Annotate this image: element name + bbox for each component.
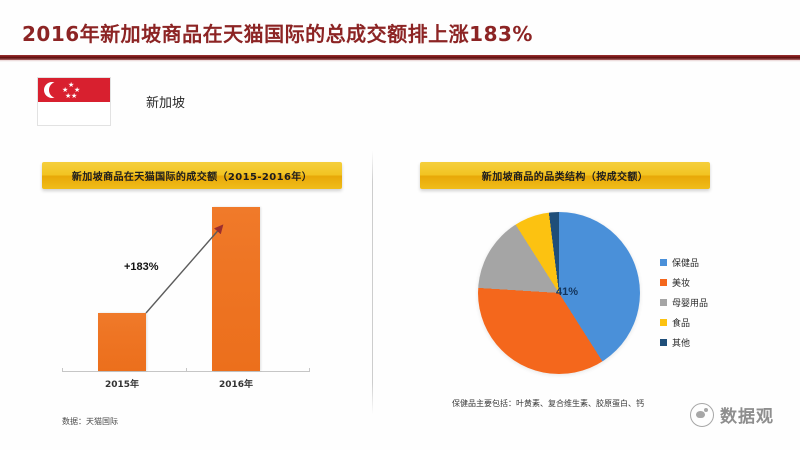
legend-swatch-icon bbox=[660, 299, 667, 306]
legend-label: 美妆 bbox=[672, 276, 690, 289]
crescent-icon bbox=[44, 82, 60, 98]
legend-item-baojianpin: 保健品 bbox=[660, 256, 740, 269]
cloud-logo-icon bbox=[690, 403, 714, 427]
left-chart-banner: 新加坡商品在天猫国际的成交额（2015-2016年） bbox=[42, 162, 342, 189]
panel-divider bbox=[372, 150, 373, 415]
bar-2015 bbox=[98, 313, 146, 371]
stars-icon: ★ ★ ★ ★ ★ bbox=[60, 82, 84, 99]
legend-swatch-icon bbox=[660, 339, 667, 346]
bar-label-2016: 2016年 bbox=[206, 377, 266, 390]
page-title: 2016年新加坡商品在天猫国际的总成交额排上涨183% bbox=[22, 18, 533, 47]
bar-2016 bbox=[212, 207, 260, 371]
bar-chart-axis bbox=[62, 371, 310, 372]
legend-swatch-icon bbox=[660, 259, 667, 266]
slide-canvas: 2016年新加坡商品在天猫国际的总成交额排上涨183% ★ ★ ★ ★ ★ 新加… bbox=[0, 0, 800, 450]
axis-tick-start bbox=[62, 368, 63, 372]
pie-chart: 41% bbox=[478, 212, 648, 382]
flag-white-band bbox=[38, 102, 110, 126]
legend-item-meizhuang: 美妆 bbox=[660, 276, 740, 289]
pie-footnote: 保健品主要包括：叶黄素、复合维生素、胶原蛋白、钙 bbox=[452, 398, 644, 409]
title-divider-shadow bbox=[0, 60, 800, 62]
legend-label: 其他 bbox=[672, 336, 690, 349]
bar-chart: 2015年 2016年 +183% bbox=[62, 205, 312, 390]
pie-data-label: 41% bbox=[556, 286, 578, 298]
country-block: ★ ★ ★ ★ ★ 新加坡 bbox=[38, 78, 185, 125]
legend-item-qita: 其他 bbox=[660, 336, 740, 349]
growth-annotation: +183% bbox=[124, 261, 159, 273]
axis-tick-mid bbox=[186, 368, 187, 372]
legend-swatch-icon bbox=[660, 279, 667, 286]
legend-item-shipin: 食品 bbox=[660, 316, 740, 329]
legend-label: 食品 bbox=[672, 316, 690, 329]
singapore-flag-icon: ★ ★ ★ ★ ★ bbox=[38, 78, 110, 125]
legend-label: 母婴用品 bbox=[672, 296, 708, 309]
source-note: 数据：天猫国际 bbox=[62, 416, 118, 427]
legend-swatch-icon bbox=[660, 319, 667, 326]
legend-label: 保健品 bbox=[672, 256, 699, 269]
axis-tick-end bbox=[309, 368, 310, 372]
bar-label-2015: 2015年 bbox=[92, 377, 152, 390]
watermark-text: 数据观 bbox=[720, 402, 774, 427]
right-chart-banner: 新加坡商品的品类结构（按成交额） bbox=[420, 162, 710, 189]
country-label: 新加坡 bbox=[146, 92, 185, 111]
pie-legend: 保健品 美妆 母婴用品 食品 其他 bbox=[660, 256, 740, 356]
legend-item-muying: 母婴用品 bbox=[660, 296, 740, 309]
watermark: 数据观 bbox=[690, 402, 774, 427]
